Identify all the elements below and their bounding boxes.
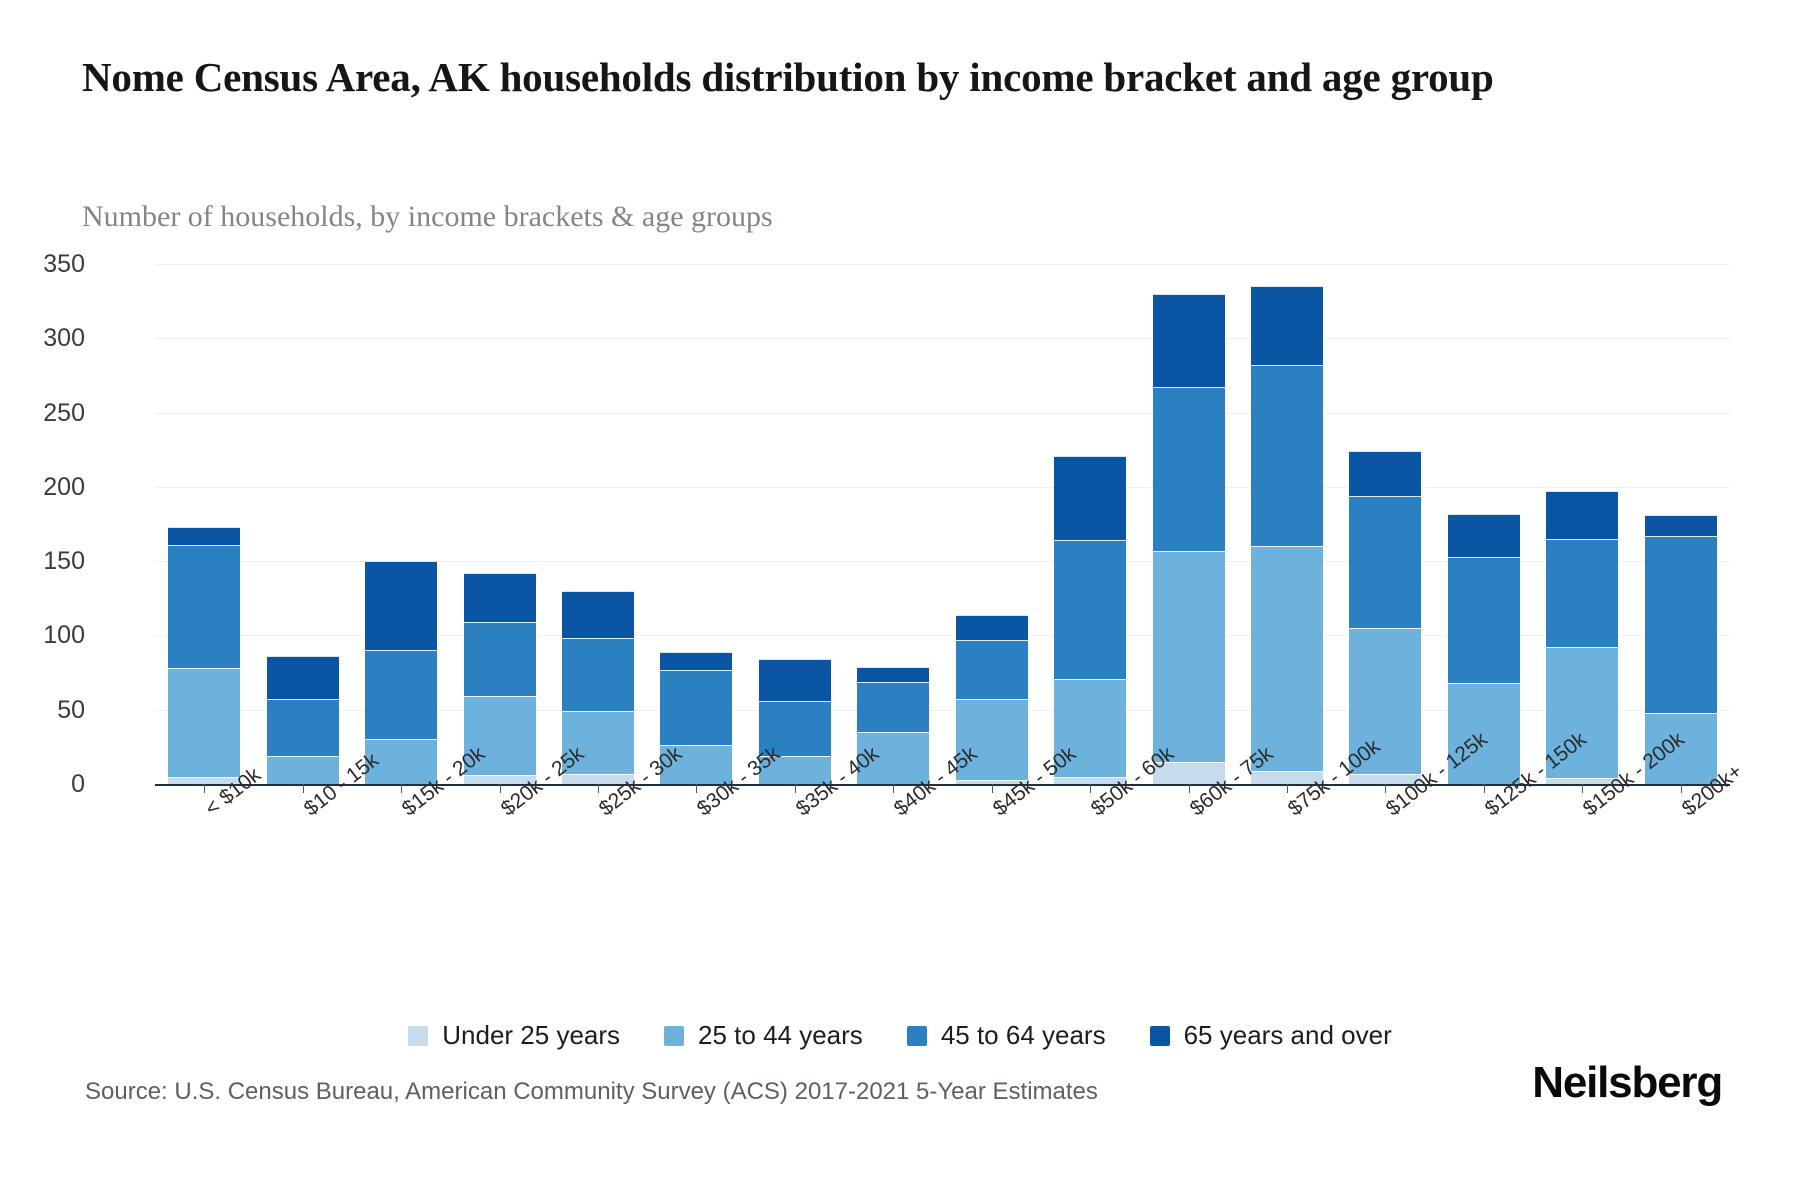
bar-segment[interactable]	[660, 652, 732, 670]
stacked-bar[interactable]	[1251, 286, 1323, 784]
stacked-bar[interactable]	[1054, 456, 1126, 784]
x-label-slot: $30k - 35k	[647, 786, 745, 906]
bar-segment[interactable]	[365, 650, 437, 739]
y-axis-tick-label: 0	[0, 770, 85, 799]
chart-page: Nome Census Area, AK households distribu…	[0, 0, 1800, 1200]
bar-segment[interactable]	[759, 659, 831, 701]
stacked-bar[interactable]	[168, 527, 240, 784]
bar-segment[interactable]	[1251, 546, 1323, 770]
y-axis-tick-label: 350	[0, 250, 85, 279]
bar-slot[interactable]	[647, 264, 745, 784]
bar-segment[interactable]	[267, 699, 339, 755]
bar-segment[interactable]	[1645, 515, 1717, 536]
bar-segment[interactable]	[562, 638, 634, 711]
stacked-bar[interactable]	[1153, 294, 1225, 784]
bar-segment[interactable]	[168, 527, 240, 545]
bar-segment[interactable]	[857, 682, 929, 733]
legend-item[interactable]: 65 years and over	[1150, 1020, 1392, 1051]
legend-item[interactable]: 45 to 64 years	[907, 1020, 1106, 1051]
bar-slot[interactable]	[155, 264, 253, 784]
bar-slot[interactable]	[450, 264, 548, 784]
bar-segment[interactable]	[1153, 294, 1225, 388]
bar-segment[interactable]	[562, 591, 634, 639]
bar-series-container	[155, 264, 1730, 784]
bar-segment[interactable]	[1349, 451, 1421, 496]
x-label-slot: < $10k	[155, 786, 253, 906]
x-label-slot: $125k - 150k	[1435, 786, 1533, 906]
chart-legend: Under 25 years25 to 44 years45 to 64 yea…	[0, 1020, 1800, 1051]
bar-slot[interactable]	[1632, 264, 1730, 784]
bar-segment[interactable]	[1054, 540, 1126, 678]
bar-segment[interactable]	[1251, 365, 1323, 546]
bar-segment[interactable]	[1448, 514, 1520, 557]
bar-segment[interactable]	[1349, 496, 1421, 628]
stacked-bar[interactable]	[1349, 451, 1421, 784]
legend-label: 65 years and over	[1184, 1020, 1392, 1051]
y-axis-tick-label: 250	[0, 399, 85, 428]
bar-slot[interactable]	[1238, 264, 1336, 784]
bar-segment[interactable]	[1054, 456, 1126, 541]
x-label-slot: $10 - 15k	[253, 786, 351, 906]
x-label-slot: $50k - 60k	[1041, 786, 1139, 906]
x-label-slot: $150k - 200k	[1533, 786, 1631, 906]
legend-swatch-icon	[664, 1026, 684, 1046]
brand-logo: Neilsberg	[1532, 1058, 1722, 1108]
page-title: Nome Census Area, AK households distribu…	[82, 52, 1722, 102]
bar-segment[interactable]	[168, 668, 240, 776]
page-subtitle: Number of households, by income brackets…	[82, 200, 773, 234]
legend-item[interactable]: Under 25 years	[408, 1020, 620, 1051]
x-label-slot: $25k - 30k	[549, 786, 647, 906]
bar-segment[interactable]	[1546, 491, 1618, 539]
bar-slot[interactable]	[1139, 264, 1237, 784]
bar-segment[interactable]	[464, 573, 536, 622]
y-axis-tick-label: 300	[0, 324, 85, 353]
x-label-slot: $15k - 20k	[352, 786, 450, 906]
bar-segment[interactable]	[1153, 387, 1225, 550]
bar-segment[interactable]	[1448, 557, 1520, 683]
x-label-slot: $45k - 50k	[943, 786, 1041, 906]
y-axis-tick-label: 50	[0, 696, 85, 725]
bar-segment[interactable]	[1645, 536, 1717, 713]
bar-segment[interactable]	[168, 545, 240, 668]
bar-slot[interactable]	[1041, 264, 1139, 784]
bar-slot[interactable]	[1336, 264, 1434, 784]
legend-swatch-icon	[408, 1026, 428, 1046]
bar-segment[interactable]	[857, 667, 929, 682]
bar-slot[interactable]	[943, 264, 1041, 784]
bar-slot[interactable]	[746, 264, 844, 784]
stacked-bar[interactable]	[267, 656, 339, 784]
x-label-slot: $75k - 100k	[1238, 786, 1336, 906]
bar-slot[interactable]	[549, 264, 647, 784]
source-note: Source: U.S. Census Bureau, American Com…	[85, 1078, 1098, 1106]
legend-label: Under 25 years	[442, 1020, 620, 1051]
bar-segment[interactable]	[1153, 551, 1225, 762]
stacked-bar[interactable]	[365, 561, 437, 784]
bar-slot[interactable]	[844, 264, 942, 784]
y-axis-tick-label: 200	[0, 473, 85, 502]
x-label-slot: $35k - 40k	[746, 786, 844, 906]
bar-slot[interactable]	[1533, 264, 1631, 784]
bar-segment[interactable]	[1546, 539, 1618, 647]
x-axis-labels: < $10k$10 - 15k$15k - 20k$20k - 25k$25k …	[155, 786, 1730, 906]
legend-label: 45 to 64 years	[941, 1020, 1106, 1051]
bar-slot[interactable]	[253, 264, 351, 784]
bar-segment[interactable]	[267, 656, 339, 699]
bar-segment[interactable]	[660, 670, 732, 746]
y-axis-tick-label: 100	[0, 621, 85, 650]
bar-segment[interactable]	[956, 640, 1028, 699]
bar-segment[interactable]	[1251, 286, 1323, 365]
y-axis-tick-label: 150	[0, 547, 85, 576]
bar-slot[interactable]	[352, 264, 450, 784]
legend-swatch-icon	[1150, 1026, 1170, 1046]
legend-item[interactable]: 25 to 44 years	[664, 1020, 863, 1051]
x-label-slot: $100k - 125k	[1336, 786, 1434, 906]
x-label-slot: $200k+	[1632, 786, 1730, 906]
plot-area: 050100150200250300350	[155, 264, 1730, 784]
bar-segment[interactable]	[956, 615, 1028, 640]
x-label-slot: $40k - 45k	[844, 786, 942, 906]
x-label-slot: $60k - 75k	[1139, 786, 1237, 906]
bar-slot[interactable]	[1435, 264, 1533, 784]
legend-swatch-icon	[907, 1026, 927, 1046]
legend-label: 25 to 44 years	[698, 1020, 863, 1051]
bar-segment[interactable]	[464, 622, 536, 696]
bar-segment[interactable]	[365, 561, 437, 650]
x-label-slot: $20k - 25k	[450, 786, 548, 906]
